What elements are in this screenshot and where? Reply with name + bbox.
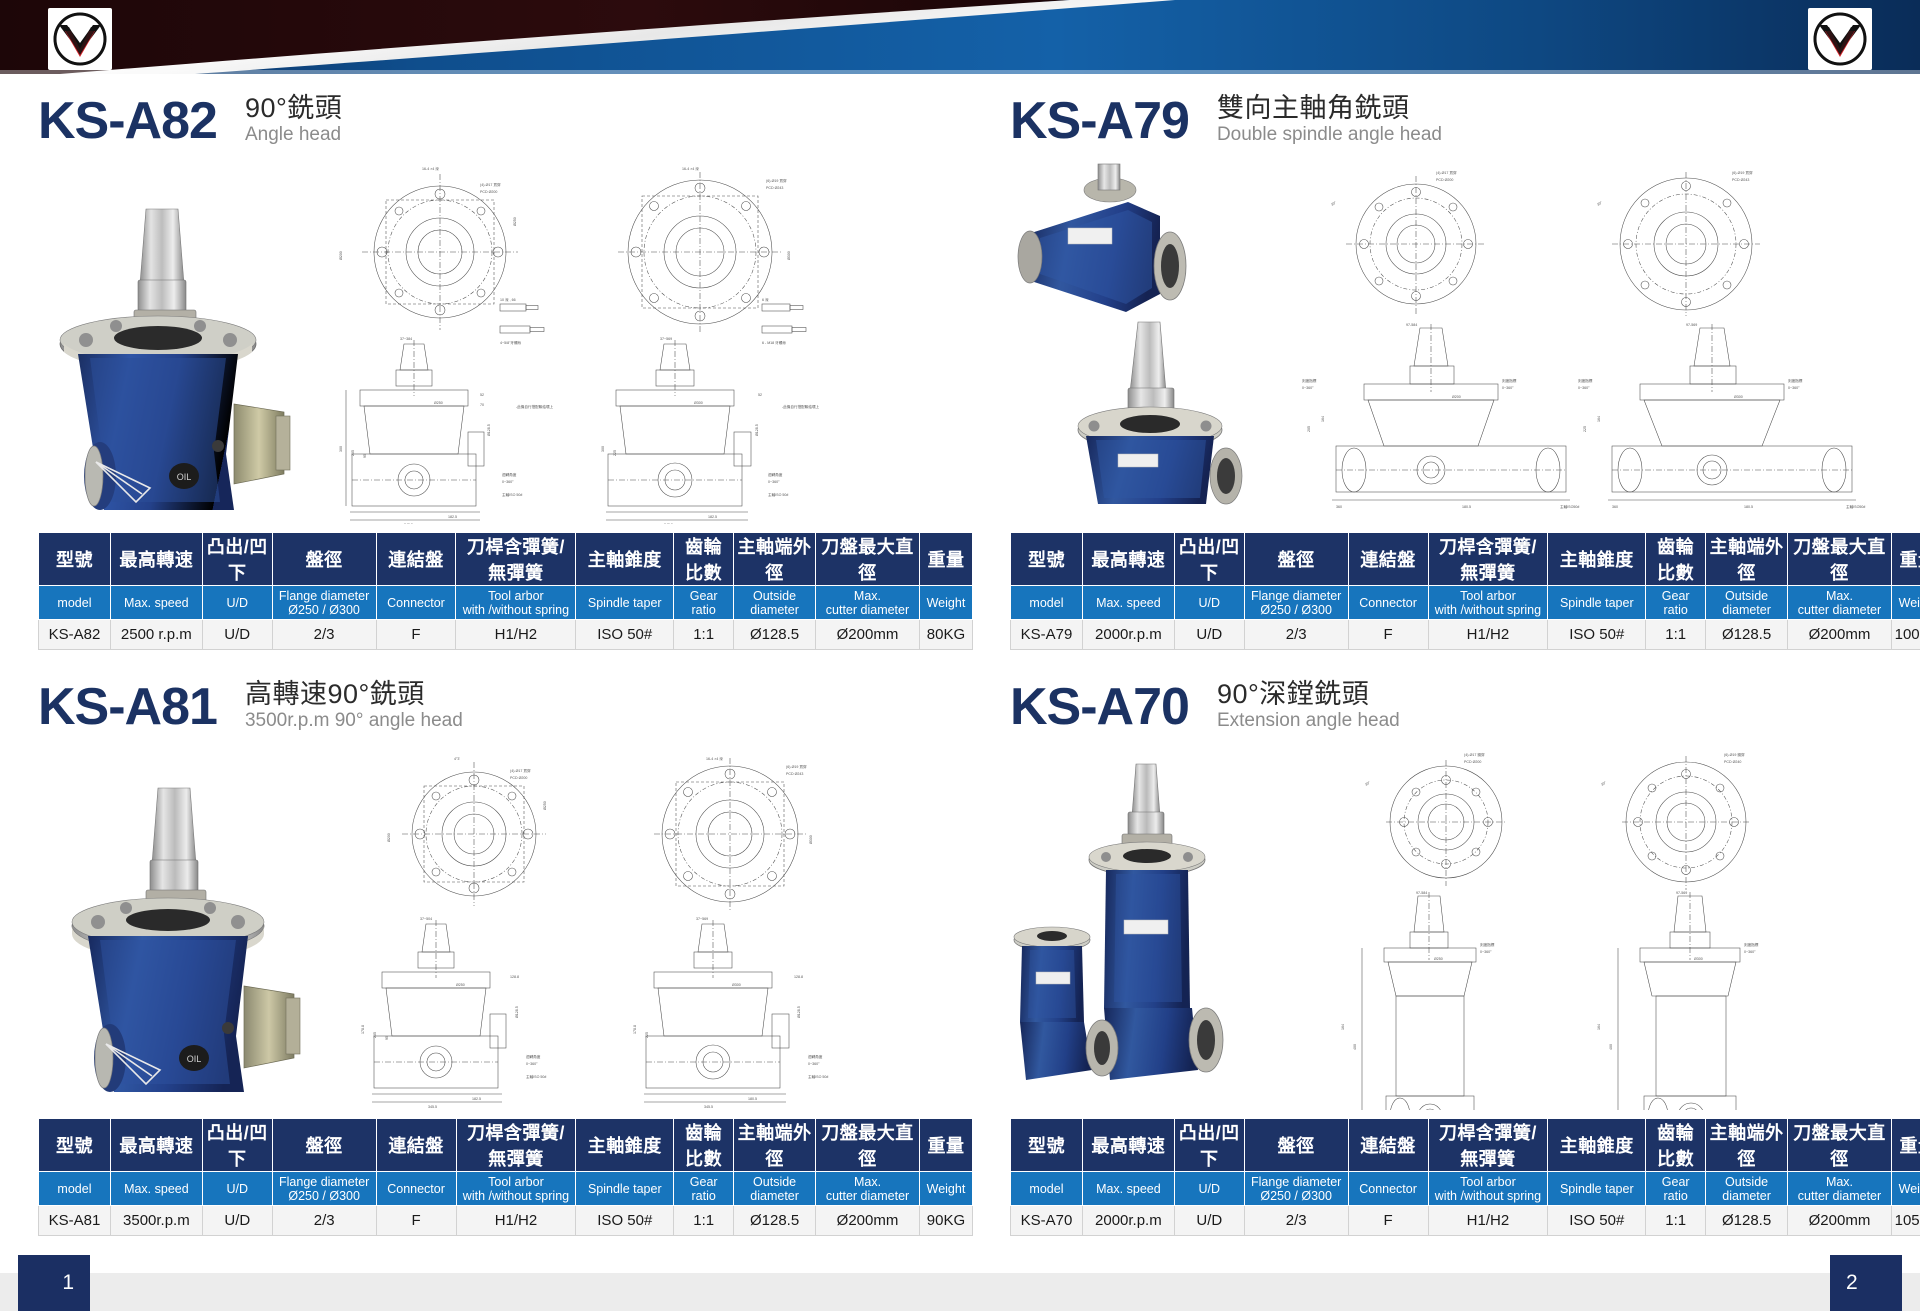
spec-th-cn-6: 主軸錐度 [576,533,674,586]
svg-text:刻度指標: 刻度指標 [1502,378,1517,383]
cell-ud: U/D [1174,1206,1244,1236]
svg-text:0~360°: 0~360° [1744,950,1756,954]
svg-text:345.5: 345.5 [664,523,673,524]
product-block-ks-a70: KS-A70 90°深鏜銑頭 Extension angle head [1010,672,1920,1236]
cell-max-cutter-diameter: Ø200mm [816,620,920,650]
product-title-cn: 高轉速90°銑頭 [245,679,463,709]
product-header: KS-A81 高轉速90°銑頭 3500r.p.m 90° angle head [38,672,973,734]
svg-text:97-569: 97-569 [1686,323,1697,327]
spec-th-cn-8: 主軸端外徑 [734,1119,816,1172]
svg-text:迴轉角度: 迴轉角度 [808,1054,823,1059]
spec-th-cn-0: 型號 [39,533,111,586]
spec-th-cn-2: 凸出/凹下 [1174,1119,1244,1172]
spec-th-en-6: Spindle taper [576,586,674,620]
spec-th-cn-6: 主軸錐度 [1548,1119,1646,1172]
product-title-cn: 90°深鏜銑頭 [1217,679,1400,709]
svg-text:迴轉角度: 迴轉角度 [526,1054,541,1059]
spec-table: 型號 最高轉速 凸出/凹下 盤徑 連結盤 刀桿含彈簧/無彈簧 主軸錐度 齒輪比數… [38,1118,973,1236]
spec-th-cn-4: 連結盤 [376,533,456,586]
svg-text:0~360°: 0~360° [768,480,780,484]
svg-text:PCD Ø243: PCD Ø243 [766,186,783,190]
svg-text:主軸ISO 50#: 主軸ISO 50# [768,492,788,497]
spec-th-cn-7: 齒輪比數 [1646,1119,1706,1172]
cell-ud: U/D [1174,620,1244,650]
spec-th-cn-1: 最高轉速 [1082,533,1174,586]
svg-text:0~360°: 0~360° [1578,386,1590,390]
cell-spindle-taper: ISO 50# [1548,1206,1646,1236]
table-row: KS-A82 2500 r.p.m U/D 2/3 F H1/H2 ISO 50… [39,620,973,650]
cell-max-cutter-diameter: Ø200mm [1788,1206,1892,1236]
spec-th-en-7: Gearratio [1646,1172,1706,1206]
svg-text:300: 300 [339,446,343,452]
spec-th-cn-2: 凸出/凹下 [202,1119,272,1172]
svg-text:(6)-Ø19 貫穿: (6)-Ø19 貫穿 [786,764,807,769]
cell-model: KS-A70 [1011,1206,1083,1236]
svg-text:主軸ISO 50#: 主軸ISO 50# [526,1074,546,1079]
svg-text:Ø300: Ø300 [787,251,791,260]
svg-text:Ø128.5: Ø128.5 [755,424,759,436]
spec-th-cn-3: 盤徑 [1244,1119,1348,1172]
spec-th-cn-5: 刀桿含彈簧/無彈簧 [1428,533,1548,586]
spec-th-en-8: Outsidediameter [734,586,816,620]
svg-text:95: 95 [363,454,367,458]
product-photo: OIL [38,740,303,1110]
svg-text:Ø250: Ø250 [513,217,517,226]
svg-text:(4)-Ø17 貫穿: (4)-Ø17 貫穿 [510,768,531,773]
svg-text:(6)-Ø19 鑽穿: (6)-Ø19 鑽穿 [1724,752,1745,757]
product-title-en: Angle head [245,123,342,146]
cell-gear-ratio: 1:1 [674,1206,734,1236]
product-title-en: Extension angle head [1217,709,1400,732]
svg-text:16-4 ×4 深: 16-4 ×4 深 [422,166,439,171]
spec-th-cn-10: 重量 [1891,533,1920,586]
spec-th-cn-6: 主軸錐度 [1548,533,1646,586]
page-number-right: 2 [1830,1255,1902,1311]
svg-text:182.5: 182.5 [708,515,717,519]
spec-th-cn-8: 主軸端外徑 [1706,1119,1788,1172]
svg-text:主軸ISO50#: 主軸ISO50# [1846,504,1865,509]
svg-text:刻度指標: 刻度指標 [1480,942,1495,947]
cell-max-speed: 2000r.p.m [1082,620,1174,650]
spec-th-cn-8: 主軸端外徑 [1706,533,1788,586]
spec-th-cn-7: 齒輪比數 [674,533,734,586]
spec-header-en: model Max. speed U/D Flange diameterØ250… [39,586,973,620]
product-model-code: KS-A82 [38,94,217,148]
svg-text:182.5: 182.5 [472,1097,481,1101]
svg-text:Ø128.5: Ø128.5 [797,1006,801,1018]
table-row: KS-A79 2000r.p.m U/D 2/3 F H1/H2 ISO 50#… [1011,620,1920,650]
svg-text:Ø300: Ø300 [809,835,813,844]
spec-header-cn: 型號 最高轉速 凸出/凹下 盤徑 連結盤 刀桿含彈簧/無彈簧 主軸錐度 齒輪比數… [1011,533,1920,586]
footer-bar [0,1273,1920,1311]
svg-text:128.8: 128.8 [794,975,803,979]
technical-drawings: (4)-Ø17 貫穿 PCD Ø200 30° [1282,154,1920,524]
spec-th-en-4: Connector [376,1172,456,1206]
spec-th-en-3: Flange diameterØ250 / Ø300 [1244,586,1348,620]
svg-text:16-4 ×4 深: 16-4 ×4 深 [682,166,699,171]
svg-text:PCD Ø243: PCD Ø243 [786,772,803,776]
svg-text:主軸ISO 50#: 主軸ISO 50# [808,1074,828,1079]
svg-text:PCD Ø200: PCD Ø200 [1464,760,1481,764]
product-photo: OIL [38,154,303,524]
header-banner [0,0,1920,74]
cell-spindle-taper: ISO 50# [576,620,674,650]
svg-text:Ø200: Ø200 [387,833,391,842]
spec-th-cn-3: 盤徑 [272,533,376,586]
spec-th-cn-3: 盤徑 [1244,533,1348,586]
product-block-ks-a79: KS-A79 雙向主軸角銑頭 Double spindle angle head [1010,86,1920,650]
spec-th-cn-8: 主軸端外徑 [734,533,816,586]
svg-text:4°3': 4°3' [454,757,460,761]
technical-drawings: 4°3' (4)-Ø17 貫穿 PCD Ø200 Ø250 Ø200 [310,740,973,1110]
spec-th-en-4: Connector [1348,1172,1428,1206]
table-row: KS-A81 3500r.p.m U/D 2/3 F H1/H2 ISO 50#… [39,1206,973,1236]
product-title-cn: 90°銑頭 [245,93,342,123]
spec-th-cn-2: 凸出/凹下 [202,533,272,586]
company-logo-right [1808,8,1872,70]
spec-th-cn-4: 連結盤 [1348,533,1428,586]
product-model-code: KS-A79 [1010,94,1189,148]
cell-connector: F [1348,1206,1428,1236]
svg-text:Ø300: Ø300 [1694,957,1703,961]
cell-tool-arbor: H1/H2 [456,1206,576,1236]
spec-header-en: model Max. speed U/D Flange diameterØ250… [1011,586,1920,620]
cell-connector: F [376,1206,456,1236]
product-photo [1010,154,1275,524]
svg-text:345.5: 345.5 [404,523,413,524]
spec-th-en-1: Max. speed [110,586,202,620]
spec-th-cn-1: 最高轉速 [110,1119,202,1172]
svg-text:178.8: 178.8 [361,1025,365,1034]
svg-text:4~5/8"牙螺絲: 4~5/8"牙螺絲 [500,340,522,345]
svg-text:0~360°: 0~360° [1788,386,1800,390]
cell-outside-diameter: Ø128.5 [1706,620,1788,650]
spec-header-cn: 型號 最高轉速 凸出/凹下 盤徑 連結盤 刀桿含彈簧/無彈簧 主軸錐度 齒輪比數… [1011,1119,1920,1172]
svg-text:迴轉角度: 迴轉角度 [502,472,517,477]
spec-th-cn-0: 型號 [1011,1119,1083,1172]
cell-spindle-taper: ISO 50# [1548,620,1646,650]
spec-th-cn-10: 重量 [1891,1119,1920,1172]
spec-th-en-4: Connector [376,586,456,620]
svg-text:400: 400 [1353,1044,1357,1050]
svg-text:300: 300 [601,446,605,452]
spec-th-en-3: Flange diameterØ250 / Ø300 [1244,1172,1348,1206]
svg-text:Ø300: Ø300 [694,401,703,405]
spec-th-en-8: Outsidediameter [734,1172,816,1206]
logo-icon [51,11,109,67]
logo-icon [1811,11,1869,67]
spec-th-en-10: Weight [1891,1172,1920,1206]
svg-text:PCD Ø200: PCD Ø200 [1436,178,1453,182]
cell-gear-ratio: 1:1 [674,620,734,650]
spec-th-en-1: Max. speed [1082,1172,1174,1206]
cell-tool-arbor: H1/H2 [456,620,576,650]
svg-text:Ø250: Ø250 [543,801,547,810]
cell-max-speed: 2500 r.p.m [110,620,202,650]
spec-th-cn-10: 重量 [919,1119,972,1172]
spec-table: 型號 最高轉速 凸出/凹下 盤徑 連結盤 刀桿含彈簧/無彈簧 主軸錐度 齒輪比數… [1010,1118,1920,1236]
spec-th-en-2: U/D [202,1172,272,1206]
svg-text:Ø200: Ø200 [1452,395,1461,399]
product-visuals: (4)-Ø17 貫穿 PCD Ø200 30° [1010,154,1920,524]
svg-text:30°: 30° [1330,200,1337,207]
svg-text:(4)-Ø17 貫穿: (4)-Ø17 貫穿 [1436,170,1457,175]
cell-gear-ratio: 1:1 [1646,620,1706,650]
company-logo-left [48,8,112,70]
cell-flange-diameter: 2/3 [272,620,376,650]
product-header: KS-A79 雙向主軸角銑頭 Double spindle angle head [1010,86,1920,148]
svg-text:Ø300: Ø300 [732,983,741,987]
svg-text:97-584: 97-584 [1416,891,1427,895]
spec-th-en-2: U/D [1174,1172,1244,1206]
svg-text:刻度指標: 刻度指標 [1744,942,1759,947]
spec-table: 型號 最高轉速 凸出/凹下 盤徑 連結盤 刀桿含彈簧/無彈簧 主軸錐度 齒輪比數… [38,532,973,650]
svg-text:Ø250: Ø250 [434,401,443,405]
svg-text:(4)-Ø17 鑽穿: (4)-Ø17 鑽穿 [1464,752,1485,757]
spec-table: 型號 最高轉速 凸出/凹下 盤徑 連結盤 刀桿含彈簧/無彈簧 主軸錐度 齒輪比數… [1010,532,1920,650]
spec-th-cn-10: 重量 [919,533,972,586]
spec-th-cn-2: 凸出/凹下 [1174,533,1244,586]
svg-text:Ø250: Ø250 [1434,957,1443,961]
svg-text:-此機自行搭配聯結環上: -此機自行搭配聯結環上 [782,404,820,409]
svg-text:30°: 30° [1600,780,1607,787]
svg-text:180.5: 180.5 [748,1097,757,1101]
cell-tool-arbor: H1/H2 [1428,620,1548,650]
svg-text:400: 400 [1609,1044,1613,1050]
technical-drawings: (4)-Ø17 鑽穿 PCD Ø200 30° [1282,740,1920,1110]
svg-text:主軸ISO50#: 主軸ISO50# [1560,504,1579,509]
svg-text:(6)-Ø19 貫穿: (6)-Ø19 貫穿 [1732,170,1753,175]
spec-th-en-1: Max. speed [1082,586,1174,620]
spec-th-en-6: Spindle taper [1548,1172,1646,1206]
spec-th-cn-5: 刀桿含彈簧/無彈簧 [1428,1119,1548,1172]
spec-th-cn-5: 刀桿含彈簧/無彈簧 [456,533,576,586]
spec-th-cn-4: 連結盤 [376,1119,456,1172]
cell-ud: U/D [202,1206,272,1236]
product-visuals: OIL [38,154,973,524]
spec-th-en-9: Max.cutter diameter [1788,1172,1892,1206]
svg-text:225: 225 [613,450,617,456]
svg-text:180.5: 180.5 [1462,505,1471,509]
svg-text:Ø128.5: Ø128.5 [515,1006,519,1018]
svg-text:刻度指標: 刻度指標 [1302,378,1317,383]
spec-th-en-5: Tool arborwith /without spring [1428,586,1548,620]
svg-text:345.5: 345.5 [428,1105,437,1109]
svg-text:205: 205 [373,1032,377,1038]
spec-th-cn-5: 刀桿含彈簧/無彈簧 [456,1119,576,1172]
svg-text:37~569: 37~569 [696,917,708,921]
cell-weight: 100KG [1891,620,1920,650]
spec-th-cn-7: 齒輪比數 [674,1119,734,1172]
spec-header-cn: 型號 最高轉速 凸出/凹下 盤徑 連結盤 刀桿含彈簧/無彈簧 主軸錐度 齒輪比數… [39,1119,973,1172]
spec-th-en-6: Spindle taper [576,1172,674,1206]
spec-th-en-0: model [1011,586,1083,620]
svg-text:PCD Ø243: PCD Ø243 [1732,178,1749,182]
svg-text:225: 225 [1583,426,1587,432]
spec-th-en-10: Weight [1891,586,1920,620]
spec-th-en-5: Tool arborwith /without spring [456,586,576,620]
svg-text:205: 205 [1307,426,1311,432]
spec-th-en-0: model [39,586,111,620]
svg-text:128.8: 128.8 [510,975,519,979]
svg-text:刻度指標: 刻度指標 [1578,378,1593,383]
svg-text:PCD Ø200: PCD Ø200 [510,776,527,780]
product-block-ks-a81: KS-A81 高轉速90°銑頭 3500r.p.m 90° angle head [38,672,973,1236]
svg-text:164: 164 [1321,416,1325,422]
product-title-cn: 雙向主軸角銑頭 [1217,93,1442,123]
svg-text:0~360°: 0~360° [1502,386,1514,390]
svg-text:164: 164 [1341,1024,1345,1030]
svg-text:(6)-Ø19 貫穿: (6)-Ø19 貫穿 [766,178,787,183]
svg-text:0~360°: 0~360° [808,1062,820,1066]
spec-th-en-7: Gearratio [674,1172,734,1206]
svg-text:10 深 , 66: 10 深 , 66 [500,297,516,302]
spec-th-en-5: Tool arborwith /without spring [1428,1172,1548,1206]
svg-text:Ø128.5: Ø128.5 [487,424,491,436]
svg-text:Ø200: Ø200 [339,251,343,260]
spec-th-en-3: Flange diameterØ250 / Ø300 [272,586,376,620]
product-block-ks-a82: KS-A82 90°銑頭 Angle head [38,86,973,650]
spec-th-cn-3: 盤徑 [272,1119,376,1172]
cell-flange-diameter: 2/3 [1244,1206,1348,1236]
svg-text:182.5: 182.5 [448,515,457,519]
spec-th-en-8: Outsidediameter [1706,586,1788,620]
svg-text:刻度指標: 刻度指標 [1788,378,1803,383]
spec-th-en-1: Max. speed [110,1172,202,1206]
svg-text:178.8: 178.8 [633,1025,637,1034]
svg-text:345.5: 345.5 [704,1105,713,1109]
spec-th-cn-1: 最高轉速 [110,533,202,586]
svg-text:Ø250: Ø250 [456,983,465,987]
spec-header-en: model Max. speed U/D Flange diameterØ250… [39,1172,973,1206]
svg-text:0~360°: 0~360° [502,480,514,484]
svg-text:OIL: OIL [177,472,192,482]
cell-tool-arbor: H1/H2 [1428,1206,1548,1236]
product-header: KS-A82 90°銑頭 Angle head [38,86,973,148]
product-model-code: KS-A70 [1010,680,1189,734]
svg-text:97-584: 97-584 [1406,323,1417,327]
spec-th-en-2: U/D [202,586,272,620]
cell-flange-diameter: 2/3 [1244,620,1348,650]
svg-text:360: 360 [1336,505,1342,509]
product-title-en: Double spindle angle head [1217,123,1442,146]
product-visuals: (4)-Ø17 鑽穿 PCD Ø200 30° [1010,740,1920,1110]
svg-text:95: 95 [385,1036,389,1040]
spec-th-en-6: Spindle taper [1548,586,1646,620]
svg-text:37~504: 37~504 [420,917,432,921]
spec-th-en-10: Weight [919,586,972,620]
page-footer: 1 2 [0,1249,1920,1311]
svg-text:30°: 30° [1364,780,1371,787]
svg-text:37~384: 37~384 [400,337,412,341]
svg-text:164: 164 [1597,416,1601,422]
svg-text:52: 52 [758,393,762,397]
svg-text:Ø300: Ø300 [1734,395,1743,399]
spec-th-en-2: U/D [1174,586,1244,620]
svg-text:52: 52 [480,393,484,397]
product-model-code: KS-A81 [38,680,217,734]
cell-max-speed: 2000r.p.m [1082,1206,1174,1236]
spec-th-cn-1: 最高轉速 [1082,1119,1174,1172]
table-row: KS-A70 2000r.p.m U/D 2/3 F H1/H2 ISO 50#… [1011,1206,1920,1236]
cell-max-cutter-diameter: Ø200mm [816,1206,920,1236]
cell-ud: U/D [202,620,272,650]
cell-model: KS-A81 [39,1206,111,1236]
spec-th-en-4: Connector [1348,586,1428,620]
spec-th-cn-9: 刀盤最大直徑 [1788,1119,1892,1172]
spec-header-en: model Max. speed U/D Flange diameterØ250… [1011,1172,1920,1206]
spec-th-en-10: Weight [919,1172,972,1206]
spec-th-cn-7: 齒輪比數 [1646,533,1706,586]
svg-text:(4)-Ø17 貫穿: (4)-Ø17 貫穿 [480,182,501,187]
cell-flange-diameter: 2/3 [272,1206,376,1236]
spec-th-en-0: model [1011,1172,1083,1206]
svg-text:OIL: OIL [187,1054,202,1064]
spec-th-en-9: Max.cutter diameter [816,586,920,620]
svg-text:180.5: 180.5 [1744,505,1753,509]
product-visuals: OIL [38,740,973,1110]
cell-connector: F [1348,620,1428,650]
spec-th-cn-0: 型號 [1011,533,1083,586]
catalog-page: KS-A82 90°銑頭 Angle head [0,0,1920,1311]
svg-text:6 深: 6 深 [762,297,769,302]
page-number-left: 1 [18,1255,90,1311]
spec-th-cn-0: 型號 [39,1119,111,1172]
cell-outside-diameter: Ø128.5 [734,1206,816,1236]
cell-model: KS-A82 [39,620,111,650]
cell-outside-diameter: Ø128.5 [1706,1206,1788,1236]
svg-text:37~569: 37~569 [660,337,672,341]
svg-text:70: 70 [480,403,484,407]
svg-text:30°: 30° [1596,200,1603,207]
product-header: KS-A70 90°深鏜銑頭 Extension angle head [1010,672,1920,734]
svg-text:16-4 ×4 深: 16-4 ×4 深 [706,756,723,761]
cell-max-cutter-diameter: Ø200mm [1788,620,1892,650]
svg-text:-此機自行搭配聯結環上: -此機自行搭配聯結環上 [516,404,554,409]
spec-th-en-5: Tool arborwith /without spring [456,1172,576,1206]
svg-text:PCD Ø200: PCD Ø200 [480,190,497,194]
spec-th-cn-9: 刀盤最大直徑 [816,1119,920,1172]
spec-th-cn-9: 刀盤最大直徑 [1788,533,1892,586]
svg-text:0~360°: 0~360° [1302,386,1314,390]
svg-text:6 - M18 牙螺絲: 6 - M18 牙螺絲 [762,340,786,345]
technical-drawings: 16-4 ×4 深 (4)-Ø17 貫穿 PCD Ø200 Ø250 Ø200 [310,154,973,524]
cell-weight: 80KG [919,620,972,650]
spec-th-en-3: Flange diameterØ250 / Ø300 [272,1172,376,1206]
spec-th-cn-6: 主軸錐度 [576,1119,674,1172]
svg-text:164: 164 [1597,1024,1601,1030]
cell-weight: 90KG [919,1206,972,1236]
spec-th-en-7: Gearratio [674,586,734,620]
product-title-en: 3500r.p.m 90° angle head [245,709,463,732]
spec-header-cn: 型號 最高轉速 凸出/凹下 盤徑 連結盤 刀桿含彈簧/無彈簧 主軸錐度 齒輪比數… [39,533,973,586]
spec-th-en-8: Outsidediameter [1706,1172,1788,1206]
svg-text:迴轉角度: 迴轉角度 [768,472,783,477]
cell-spindle-taper: ISO 50# [576,1206,674,1236]
svg-text:225: 225 [645,1032,649,1038]
svg-text:主軸ISO 50#: 主軸ISO 50# [502,492,522,497]
spec-th-en-0: model [39,1172,111,1206]
spec-th-cn-9: 刀盤最大直徑 [816,533,920,586]
cell-weight: 105KG [1891,1206,1920,1236]
cell-max-speed: 3500r.p.m [110,1206,202,1236]
product-photo [1010,740,1275,1110]
spec-th-cn-4: 連結盤 [1348,1119,1428,1172]
svg-text:360: 360 [1612,505,1618,509]
cell-outside-diameter: Ø128.5 [734,620,816,650]
catalog-content: KS-A82 90°銑頭 Angle head [0,74,1920,1249]
svg-text:97-569: 97-569 [1676,891,1687,895]
